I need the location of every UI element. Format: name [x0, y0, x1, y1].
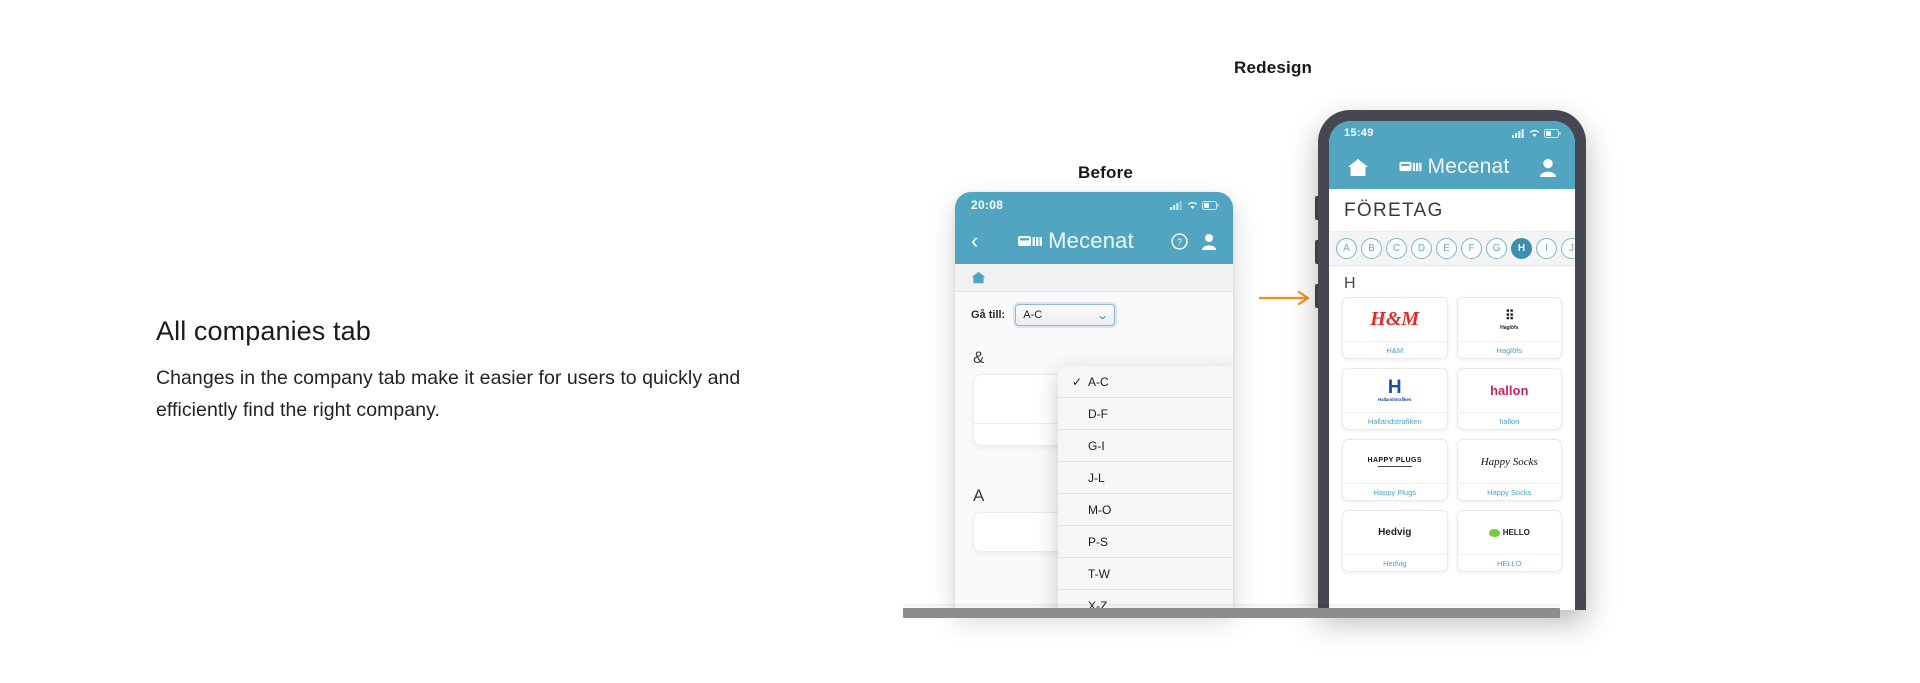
hallandstrafiken-mark: H — [1388, 379, 1402, 397]
company-name: Happy Plugs — [1343, 483, 1447, 500]
happy-plugs-rule — [1378, 466, 1412, 467]
dropdown-option-label: M-O — [1088, 503, 1111, 517]
company-name: Hallandstrafiken — [1343, 412, 1447, 429]
happy-plugs-logo: HAPPY PLUGS — [1368, 457, 1422, 467]
goto-dropdown-menu[interactable]: ✓ A-C D-F G-I J-L M-O P-S — [1058, 366, 1233, 610]
brand-lockup: Mecenat — [993, 228, 1159, 254]
dropdown-option[interactable]: D-F — [1058, 398, 1233, 430]
company-card[interactable]: H Hallandstrafiken Hallandstrafiken — [1342, 368, 1448, 430]
dropdown-option[interactable]: M-O — [1058, 494, 1233, 526]
haglofs-mark: ⠿ — [1505, 308, 1514, 324]
hello-wordmark: HELLO — [1503, 528, 1530, 537]
alpha-chip-c[interactable]: C — [1386, 238, 1407, 259]
wifi-icon — [1529, 129, 1540, 138]
happy-plugs-wordmark: HAPPY PLUGS — [1368, 457, 1422, 464]
dropdown-option[interactable]: J-L — [1058, 462, 1233, 494]
company-logo: Hedvig — [1343, 511, 1447, 554]
alpha-chip-e[interactable]: E — [1436, 238, 1457, 259]
home-icon[interactable] — [971, 271, 986, 284]
dropdown-option[interactable]: P-S — [1058, 526, 1233, 558]
home-icon[interactable] — [1347, 158, 1369, 177]
phone-redesign: 15:49 — [1318, 110, 1586, 610]
company-grid: H&M H&M ⠿ Haglöfs Haglöfs — [1329, 297, 1575, 572]
alpha-chip-a[interactable]: A — [1336, 238, 1357, 259]
signal-icon — [1170, 201, 1183, 210]
svg-text:?: ? — [1177, 237, 1182, 247]
dropdown-option-label: G-I — [1088, 439, 1105, 453]
dropdown-option-label: D-F — [1088, 407, 1108, 421]
company-logo: hallon — [1458, 369, 1562, 412]
hello-logo: HELLO — [1489, 528, 1530, 537]
status-icons — [1512, 129, 1561, 138]
company-name: HELLO — [1458, 554, 1562, 571]
haglofs-wordmark: Haglöfs — [1500, 325, 1518, 331]
copy-block: All companies tab Changes in the company… — [156, 316, 776, 426]
chevron-down-icon: ⌄ — [1096, 309, 1109, 322]
ground-shelf — [903, 608, 1560, 618]
alpha-chip-i[interactable]: I — [1536, 238, 1557, 259]
alphabet-filter-bar[interactable]: A B C D E F G H I J — [1329, 231, 1575, 266]
goto-label: Gå till: — [971, 309, 1005, 321]
dropdown-option[interactable]: G-I — [1058, 430, 1233, 462]
company-logo: Happy Socks — [1458, 440, 1562, 483]
alpha-chip-j[interactable]: J — [1561, 238, 1575, 259]
company-card[interactable]: hallon hallon — [1457, 368, 1563, 430]
back-chevron-icon[interactable]: ‹ — [971, 230, 989, 252]
brand-lockup: Mecenat — [1399, 155, 1510, 179]
dropdown-option[interactable]: T-W — [1058, 558, 1233, 590]
nav-bar-redesign: Mecenat — [1329, 145, 1575, 189]
company-logo: ⠿ Haglöfs — [1458, 298, 1562, 341]
company-logo: H Hallandstrafiken — [1343, 369, 1447, 412]
nav-icons: ? — [1171, 233, 1217, 250]
person-icon[interactable] — [1539, 158, 1557, 177]
goto-select-value: A-C — [1023, 309, 1042, 321]
status-time: 20:08 — [971, 198, 1003, 212]
battery-icon — [1202, 201, 1219, 210]
happy-socks-logo: Happy Socks — [1481, 456, 1538, 468]
company-name: Happy Socks — [1458, 483, 1562, 500]
hallon-logo: hallon — [1490, 383, 1528, 398]
alpha-chip-f[interactable]: F — [1461, 238, 1482, 259]
phone-before: 20:08 ‹ — [955, 192, 1233, 610]
dropdown-option[interactable]: ✓ A-C — [1058, 366, 1233, 398]
copy-body: Changes in the company tab make it easie… — [156, 363, 776, 426]
alpha-chip-h[interactable]: H — [1511, 238, 1532, 259]
caption-redesign: Redesign — [1234, 58, 1312, 78]
redesign-screen: 15:49 — [1329, 121, 1575, 610]
alpha-chip-g[interactable]: G — [1486, 238, 1507, 259]
breadcrumb-bar-before — [955, 264, 1233, 292]
caption-before: Before — [1078, 163, 1133, 183]
section-header-h: H — [1329, 266, 1575, 297]
mecenat-card-icon — [1018, 235, 1042, 248]
hello-mark — [1489, 529, 1500, 537]
dropdown-option-label: P-S — [1088, 535, 1108, 549]
alpha-chip-b[interactable]: B — [1361, 238, 1382, 259]
goto-row: Gå till: A-C ⌄ — [955, 292, 1233, 334]
company-card[interactable]: HAPPY PLUGS Happy Plugs — [1342, 439, 1448, 501]
battery-icon — [1544, 129, 1561, 138]
hm-logo: H&M — [1370, 308, 1419, 331]
status-bar-redesign: 15:49 — [1329, 121, 1575, 145]
page-title: All companies tab — [156, 316, 776, 347]
signal-icon — [1512, 129, 1525, 138]
company-logo: HELLO — [1458, 511, 1562, 554]
brand-text: Mecenat — [1428, 155, 1510, 179]
person-icon[interactable] — [1201, 233, 1217, 250]
alpha-chip-d[interactable]: D — [1411, 238, 1432, 259]
company-card[interactable]: HELLO HELLO — [1457, 510, 1563, 572]
dropdown-option-label: T-W — [1088, 567, 1110, 581]
dropdown-option-label: J-L — [1088, 471, 1105, 485]
company-name: hallon — [1458, 412, 1562, 429]
mecenat-card-icon — [1399, 161, 1422, 173]
status-icons — [1170, 201, 1219, 210]
company-name: Hedvig — [1343, 554, 1447, 571]
arrow-right-icon — [1258, 290, 1314, 306]
company-card[interactable]: Hedvig Hedvig — [1342, 510, 1448, 572]
brand-text: Mecenat — [1048, 228, 1134, 254]
dropdown-option-label: A-C — [1088, 375, 1109, 389]
wifi-icon — [1187, 201, 1198, 210]
company-card[interactable]: ⠿ Haglöfs Haglöfs — [1457, 297, 1563, 359]
company-logo: HAPPY PLUGS — [1343, 440, 1447, 483]
hallandstrafiken-logo: H Hallandstrafiken — [1378, 379, 1411, 402]
haglofs-logo: ⠿ Haglöfs — [1500, 308, 1518, 331]
before-content: Gå till: A-C ⌄ & Ar & Ot A ✓ A-C — [955, 292, 1233, 610]
hallandstrafiken-wordmark: Hallandstrafiken — [1378, 397, 1411, 402]
check-icon: ✓ — [1072, 375, 1082, 389]
company-card[interactable]: Happy Socks Happy Socks — [1457, 439, 1563, 501]
status-time: 15:49 — [1344, 127, 1374, 139]
status-bar-before: 20:08 — [955, 192, 1233, 218]
page-heading: FÖRETAG — [1329, 189, 1575, 231]
nav-bar-before: ‹ Mecenat ? — [955, 218, 1233, 264]
hedvig-logo: Hedvig — [1378, 527, 1411, 538]
company-name: H&M — [1343, 341, 1447, 358]
company-logo: H&M — [1343, 298, 1447, 341]
company-name: Haglöfs — [1458, 341, 1562, 358]
company-card[interactable]: H&M H&M — [1342, 297, 1448, 359]
goto-select[interactable]: A-C ⌄ — [1015, 304, 1115, 326]
help-circle-icon[interactable]: ? — [1171, 233, 1188, 250]
slide-canvas: All companies tab Changes in the company… — [0, 0, 1920, 683]
